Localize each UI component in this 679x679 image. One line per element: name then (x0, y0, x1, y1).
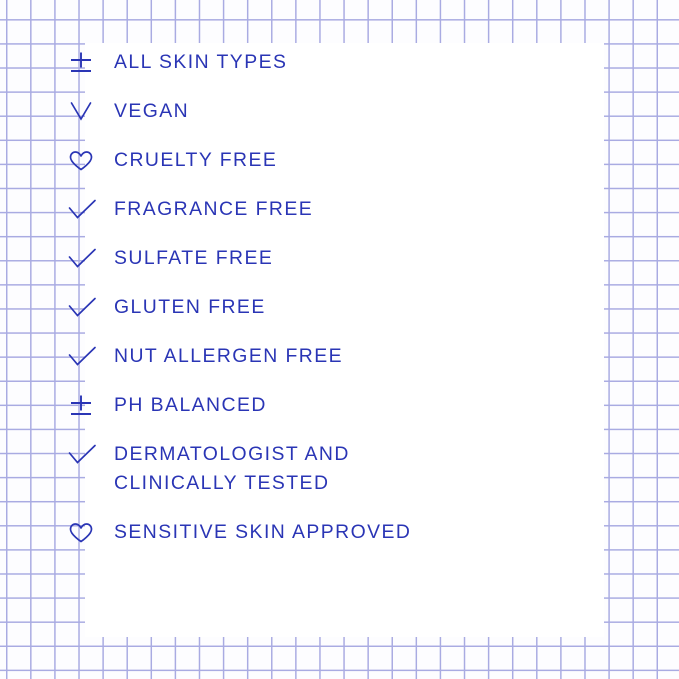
list-item-label: SULFATE FREE (114, 240, 508, 273)
list-item: VEGAN (68, 93, 508, 142)
list-item: ALL SKIN TYPES (68, 44, 508, 93)
list-item-label: PH BALANCED (114, 387, 508, 420)
list-item-label: DERMATOLOGIST AND CLINICALLY TESTED (114, 436, 508, 498)
list-item-label: SENSITIVE SKIN APPROVED (114, 514, 508, 547)
page-root: ALL SKIN TYPES VEGAN CRUELTY FREE (0, 0, 679, 679)
list-item-label: VEGAN (114, 93, 508, 126)
checkmark-icon (68, 289, 114, 321)
plus-minus-icon (68, 387, 114, 419)
product-claims-list: ALL SKIN TYPES VEGAN CRUELTY FREE (68, 44, 508, 563)
list-item: NUT ALLERGEN FREE (68, 338, 508, 387)
list-item: SULFATE FREE (68, 240, 508, 289)
list-item: GLUTEN FREE (68, 289, 508, 338)
heart-outline-icon (68, 514, 114, 546)
list-item-label: FRAGRANCE FREE (114, 191, 508, 224)
checkmark-icon (68, 191, 114, 223)
list-item-label: ALL SKIN TYPES (114, 44, 508, 77)
list-item: FRAGRANCE FREE (68, 191, 508, 240)
heart-outline-icon (68, 142, 114, 174)
list-item-label: CRUELTY FREE (114, 142, 508, 175)
list-item: SENSITIVE SKIN APPROVED (68, 514, 508, 563)
list-item: PH BALANCED (68, 387, 508, 436)
checkmark-icon (68, 436, 114, 468)
v-check-icon (68, 93, 114, 125)
list-item-label: GLUTEN FREE (114, 289, 508, 322)
plus-minus-icon (68, 44, 114, 76)
checkmark-icon (68, 338, 114, 370)
list-item: CRUELTY FREE (68, 142, 508, 191)
list-item: DERMATOLOGIST AND CLINICALLY TESTED (68, 436, 508, 514)
checkmark-icon (68, 240, 114, 272)
list-item-label: NUT ALLERGEN FREE (114, 338, 508, 371)
